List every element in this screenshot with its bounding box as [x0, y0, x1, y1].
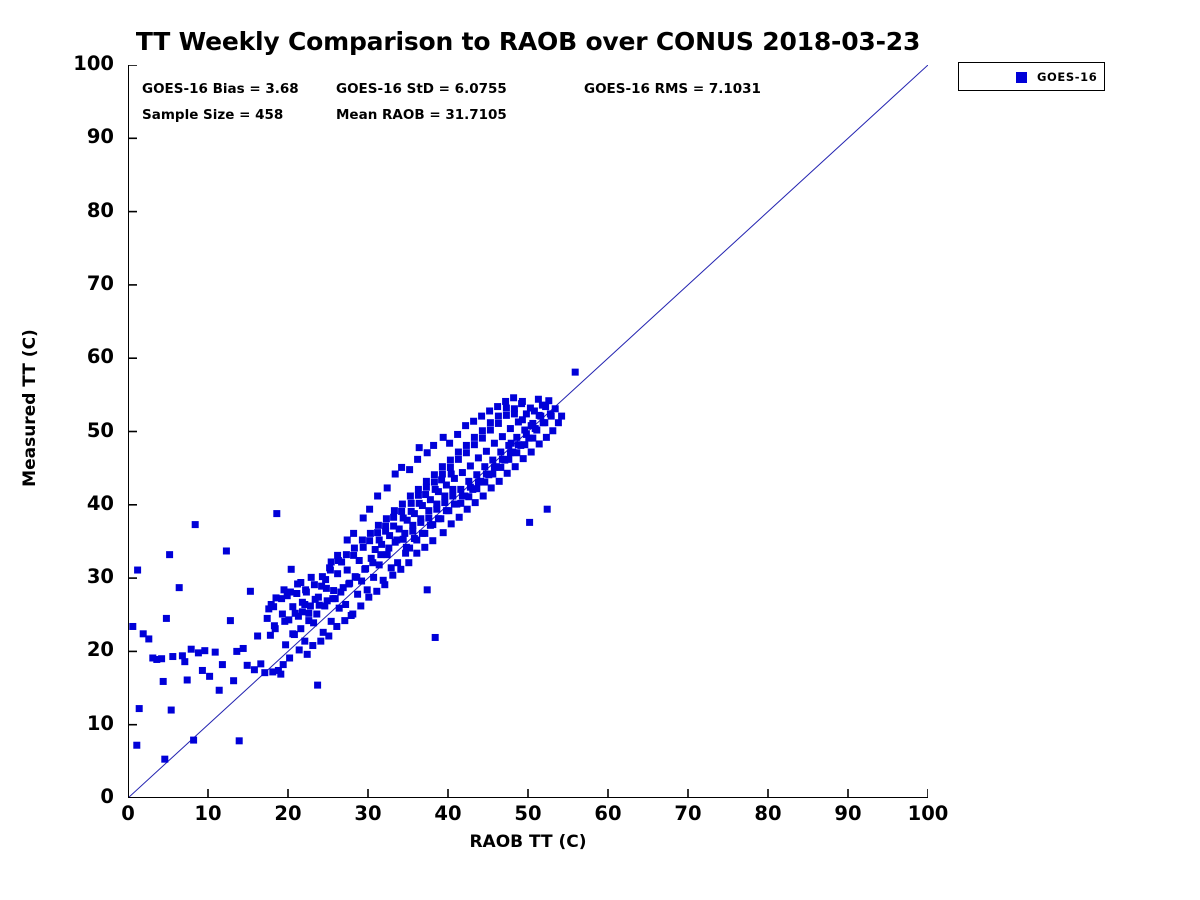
x-tick-label: 40 [413, 802, 483, 825]
y-tick-label: 10 [52, 712, 114, 735]
y-tick-label: 60 [52, 345, 114, 368]
x-tick-label: 100 [893, 802, 963, 825]
plot-axes-frame [128, 65, 928, 798]
x-tick-label: 10 [173, 802, 243, 825]
x-tick-label: 50 [493, 802, 563, 825]
y-tick-label: 100 [52, 52, 114, 75]
y-tick-label: 70 [52, 272, 114, 295]
x-axis-title: RAOB TT (C) [128, 832, 928, 852]
y-axis-title: Measured TT (C) [20, 258, 40, 558]
y-tick-label: 80 [52, 199, 114, 222]
scatter-plot-figure: TT Weekly Comparison to RAOB over CONUS … [0, 0, 1200, 900]
x-tick-label: 70 [653, 802, 723, 825]
x-tick-label: 60 [573, 802, 643, 825]
y-tick-label: 90 [52, 125, 114, 148]
y-tick-label: 50 [52, 419, 114, 442]
y-tick-label: 40 [52, 492, 114, 515]
y-tick-label: 20 [52, 638, 114, 661]
x-tick-label: 30 [333, 802, 403, 825]
legend-label-goes-16: GOES-16 [1037, 70, 1097, 84]
legend-swatch-goes-16 [1016, 72, 1027, 83]
legend[interactable]: GOES-16 [958, 62, 1105, 91]
x-tick-label: 80 [733, 802, 803, 825]
x-tick-label: 20 [253, 802, 323, 825]
y-tick-label: 30 [52, 565, 114, 588]
page-title: TT Weekly Comparison to RAOB over CONUS … [0, 27, 1056, 56]
x-tick-label: 90 [813, 802, 883, 825]
y-tick-label: 0 [52, 785, 114, 808]
